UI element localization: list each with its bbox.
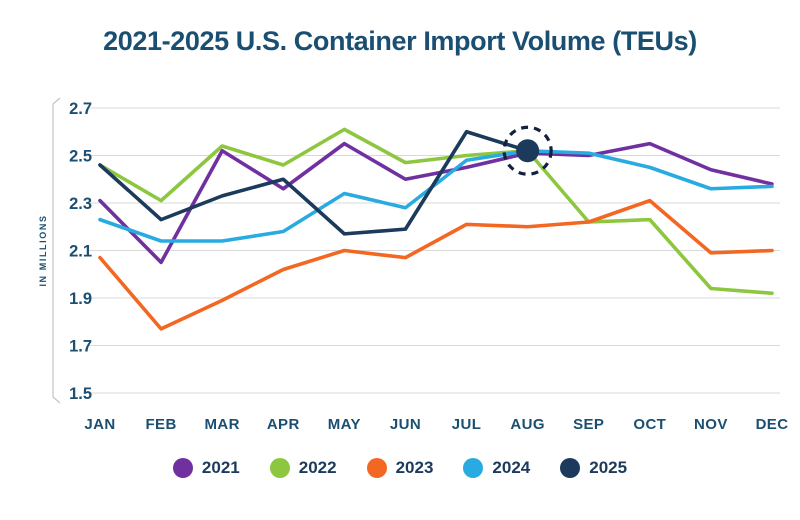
legend-swatch-icon xyxy=(560,458,580,478)
x-axis-tick-label: OCT xyxy=(633,416,666,433)
x-axis-tick-label: JUL xyxy=(452,416,482,433)
x-axis-tick-label: MAY xyxy=(328,416,361,433)
y-axis-tick-label: 2.1 xyxy=(69,243,92,261)
y-axis-unit-label: IN MILLIONS xyxy=(38,214,48,286)
y-axis-tick-label: 1.7 xyxy=(69,338,92,356)
highlight-marker-dot xyxy=(516,139,539,162)
y-axis-tick-label: 2.5 xyxy=(69,148,92,166)
legend-item-2021[interactable]: 2021 xyxy=(173,458,240,478)
y-axis-unit-label-group: IN MILLIONS xyxy=(38,214,48,286)
y-axis-labels-group: 2.72.52.32.11.91.71.5 xyxy=(69,100,92,403)
legend-swatch-icon xyxy=(367,458,387,478)
x-axis-tick-label: JUN xyxy=(390,416,421,433)
x-axis-tick-label: SEP xyxy=(573,416,604,433)
legend-item-label: 2025 xyxy=(589,458,627,478)
legend-swatch-icon xyxy=(173,458,193,478)
x-axis-tick-label: FEB xyxy=(145,416,176,433)
legend-item-label: 2021 xyxy=(202,458,240,478)
x-axis-tick-label: APR xyxy=(267,416,300,433)
x-axis-tick-label: MAR xyxy=(204,416,239,433)
y-axis-tick-label: 1.5 xyxy=(69,385,92,403)
x-axis-tick-label: JAN xyxy=(84,416,115,433)
legend-swatch-icon xyxy=(270,458,290,478)
y-axis-bracket xyxy=(53,98,60,403)
legend-item-2023[interactable]: 2023 xyxy=(367,458,434,478)
x-axis-tick-label: DEC xyxy=(756,416,789,433)
x-axis-tick-label: AUG xyxy=(510,416,545,433)
legend-item-label: 2022 xyxy=(299,458,337,478)
y-axis-tick-label: 2.7 xyxy=(69,100,92,118)
legend-item-2025[interactable]: 2025 xyxy=(560,458,627,478)
series-line-2023 xyxy=(100,201,772,329)
legend-swatch-icon xyxy=(463,458,483,478)
chart-legend: 20212022202320242025 xyxy=(0,458,800,478)
legend-item-label: 2024 xyxy=(492,458,530,478)
y-axis-tick-label: 2.3 xyxy=(69,195,92,213)
x-axis-tick-label: NOV xyxy=(694,416,728,433)
legend-item-2024[interactable]: 2024 xyxy=(463,458,530,478)
y-axis-bracket-group xyxy=(53,98,60,403)
legend-item-2022[interactable]: 2022 xyxy=(270,458,337,478)
legend-item-label: 2023 xyxy=(396,458,434,478)
chart-card: 2021-2025 U.S. Container Import Volume (… xyxy=(0,0,800,520)
line-chart-plot: 2.72.52.32.11.91.71.5 IN MILLIONS JANFEB… xyxy=(0,0,800,455)
x-axis-labels-group: JANFEBMARAPRMAYJUNJULAUGSEPOCTNOVDEC xyxy=(84,416,788,433)
y-axis-tick-label: 1.9 xyxy=(69,290,92,308)
series-lines-group xyxy=(100,129,772,329)
